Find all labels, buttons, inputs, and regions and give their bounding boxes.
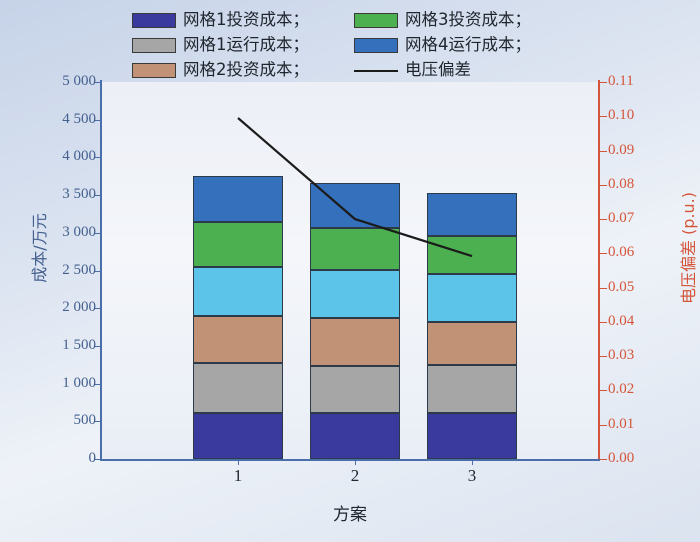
- y-axis-left-tick-label: 1 000: [62, 376, 96, 391]
- y-axis-right-tick: [600, 322, 607, 323]
- swatch-gray: [132, 38, 176, 53]
- legend-item[interactable]: 电压偏差: [354, 58, 531, 83]
- legend-item-label: 网格4运行成本；: [405, 37, 531, 54]
- bar-segment[interactable]: [310, 270, 400, 318]
- y-axis-right-tick: [600, 425, 607, 426]
- y-axis-left-tick-label: 3 500: [62, 187, 96, 202]
- bar-segment[interactable]: [310, 228, 400, 269]
- y-axis-right-tick: [600, 219, 607, 220]
- y-axis-left-tick-label: 3 000: [62, 225, 96, 240]
- y-axis-left-tick-label: 1 500: [62, 338, 96, 353]
- legend-item[interactable]: 网格2投资成本；: [132, 58, 309, 83]
- y-axis-right-tick: [600, 459, 607, 460]
- y-axis-right-tick: [600, 185, 607, 186]
- y-axis-left-tick-label: 4 000: [62, 149, 96, 164]
- y-axis-right-tick-label: 0.11: [608, 74, 634, 89]
- y-axis-right-tick-label: 0.03: [608, 348, 634, 363]
- y-axis-left-tick-label: 4 500: [62, 112, 96, 127]
- y-axis-left-tick-label: 0: [89, 451, 97, 466]
- y-axis-right-tick-label: 0.00: [608, 451, 634, 466]
- legend-item[interactable]: 网格1投资成本；: [132, 8, 309, 33]
- legend-item-label: 电压偏差: [405, 62, 471, 79]
- x-axis-tick-label: 2: [325, 466, 385, 486]
- y-axis-left-tick-label: 5 000: [62, 74, 96, 89]
- stacked-bar[interactable]: [310, 82, 400, 459]
- swatch-green: [354, 13, 398, 28]
- bar-segment[interactable]: [427, 413, 517, 459]
- legend-column-2: 网格3投资成本；网格4运行成本；电压偏差: [354, 8, 531, 83]
- bar-segment[interactable]: [310, 413, 400, 459]
- y-axis-right-tick-label: 0.01: [608, 417, 634, 432]
- bar-segment[interactable]: [310, 318, 400, 366]
- x-axis-tick-label: 1: [208, 466, 268, 486]
- bar-segment[interactable]: [427, 274, 517, 322]
- bar-segment[interactable]: [193, 176, 283, 222]
- x-axis-title: 方案: [100, 500, 600, 525]
- y-axis-right-tick-label: 0.10: [608, 108, 634, 123]
- y-axis-left-title: 成本/万元: [26, 188, 50, 308]
- x-axis-tick-label: 3: [442, 466, 502, 486]
- y-axis-left-tick-label: 500: [74, 413, 97, 428]
- chart-root: 网格1投资成本；网格1运行成本；网格2投资成本；网格2运行成本； 网格3投资成本…: [0, 0, 700, 542]
- y-axis-right-tick-label: 0.07: [608, 211, 634, 226]
- bar-segment[interactable]: [193, 267, 283, 316]
- x-axis-tick: [355, 459, 356, 465]
- y-axis-left-tick-label: 2 500: [62, 263, 96, 278]
- legend-item-label: 网格1投资成本；: [183, 12, 309, 29]
- y-axis-right-tick-label: 0.02: [608, 382, 634, 397]
- x-axis: [100, 459, 600, 461]
- y-axis-right-tick: [600, 151, 607, 152]
- bar-segment[interactable]: [427, 365, 517, 413]
- bar-segment[interactable]: [310, 366, 400, 413]
- y-axis-right-tick-label: 0.08: [608, 177, 634, 192]
- line-swatch: [354, 63, 398, 78]
- y-axis-right-title: 电压偏差 (p.u.): [675, 173, 699, 323]
- bar-segment[interactable]: [193, 413, 283, 459]
- bar-segment[interactable]: [193, 316, 283, 364]
- bar-segment[interactable]: [193, 363, 283, 413]
- legend-item-label: 网格1运行成本；: [183, 37, 309, 54]
- swatch-tan: [132, 63, 176, 78]
- y-axis-right-tick-label: 0.06: [608, 245, 634, 260]
- legend-item[interactable]: 网格3投资成本；: [354, 8, 531, 33]
- y-axis-left-tick-label: 2 000: [62, 300, 96, 315]
- y-axis-right-tick: [600, 390, 607, 391]
- swatch-blue: [354, 38, 398, 53]
- bar-segment[interactable]: [193, 222, 283, 266]
- y-axis-right-tick: [600, 116, 607, 117]
- bar-segment[interactable]: [427, 236, 517, 274]
- stacked-bar[interactable]: [193, 82, 283, 459]
- y-axis-right-tick: [600, 356, 607, 357]
- y-axis-right: [598, 80, 600, 461]
- legend-item-label: 网格2投资成本；: [183, 62, 309, 79]
- x-axis-tick: [472, 459, 473, 465]
- y-axis-right-tick: [600, 253, 607, 254]
- x-axis-tick: [238, 459, 239, 465]
- stacked-bar[interactable]: [427, 82, 517, 459]
- legend-item[interactable]: 网格4运行成本；: [354, 33, 531, 58]
- legend-item[interactable]: 网格1运行成本；: [132, 33, 309, 58]
- y-axis-right-tick-label: 0.04: [608, 314, 634, 329]
- bar-segment[interactable]: [427, 193, 517, 236]
- y-axis-right-tick-label: 0.05: [608, 280, 634, 295]
- bar-segment[interactable]: [310, 183, 400, 228]
- legend-item-label: 网格3投资成本；: [405, 12, 531, 29]
- swatch-navy: [132, 13, 176, 28]
- y-axis-right-tick: [600, 82, 607, 83]
- bar-segment[interactable]: [427, 322, 517, 365]
- y-axis-right-tick: [600, 288, 607, 289]
- y-axis-right-tick-label: 0.09: [608, 143, 634, 158]
